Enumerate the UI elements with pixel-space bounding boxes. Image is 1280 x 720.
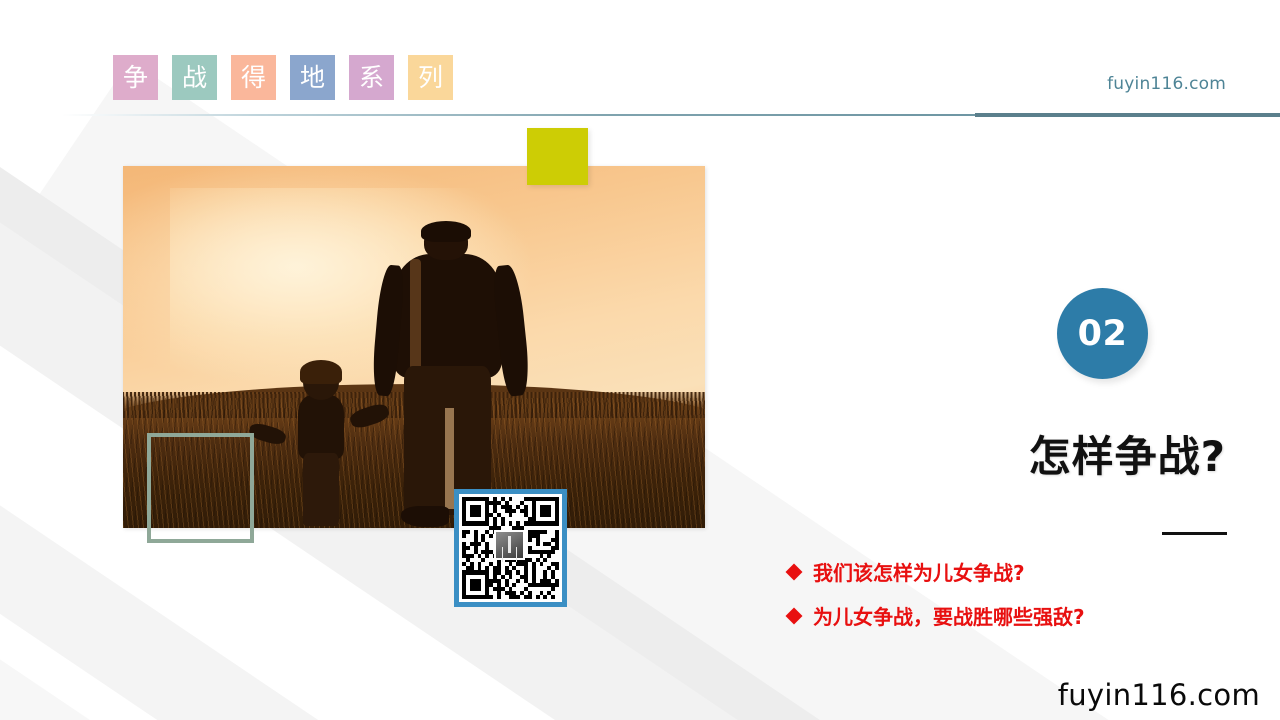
series-title-tile-3: 得	[231, 55, 276, 100]
page-title: 怎样争战?	[1029, 423, 1226, 484]
title-underline-rule	[1162, 532, 1227, 535]
father-hair	[421, 221, 471, 242]
header-site-logo: fuyin116.com	[1107, 74, 1226, 94]
series-title-tile-6: 列	[408, 55, 453, 100]
slide-canvas: 争战得地系列 fuyin116.com	[0, 0, 1280, 720]
series-title-tile-5: 系	[349, 55, 394, 100]
diamond-bullet-icon	[786, 607, 803, 624]
series-title-tiles: 争战得地系列	[113, 55, 453, 100]
child-hair	[300, 360, 342, 384]
bullet-list: 我们该怎样为儿女争战?为儿女争战，要战胜哪些强敌?	[788, 557, 1085, 630]
yellow-accent-square	[527, 128, 588, 185]
bullet-item-label: 为儿女争战，要战胜哪些强敌?	[813, 601, 1085, 630]
diamond-bullet-icon	[786, 563, 803, 580]
qr-code-field	[459, 494, 562, 602]
series-title-tile-1: 争	[113, 55, 158, 100]
child-legs	[303, 453, 339, 526]
qr-center-logo-icon	[494, 530, 525, 560]
qr-code[interactable]	[454, 489, 567, 607]
footer-site-logo: fuyin116.com	[1058, 678, 1260, 712]
header-divider-left	[62, 114, 977, 116]
father-torso	[393, 254, 502, 379]
bullet-item-label: 我们该怎样为儿女争战?	[813, 557, 1025, 586]
bullet-item-2: 为儿女争战，要战胜哪些强敌?	[788, 601, 1085, 630]
series-title-tile-4: 地	[290, 55, 335, 100]
bullet-item-1: 我们该怎样为儿女争战?	[788, 557, 1085, 586]
father-silhouette	[379, 224, 519, 521]
green-outline-square	[147, 433, 254, 543]
child-torso	[298, 395, 344, 459]
father-foot	[401, 506, 448, 527]
header-divider-right	[975, 113, 1280, 117]
section-number-badge: 02	[1057, 288, 1148, 379]
child-silhouette	[280, 365, 361, 524]
series-title-tile-2: 战	[172, 55, 217, 100]
